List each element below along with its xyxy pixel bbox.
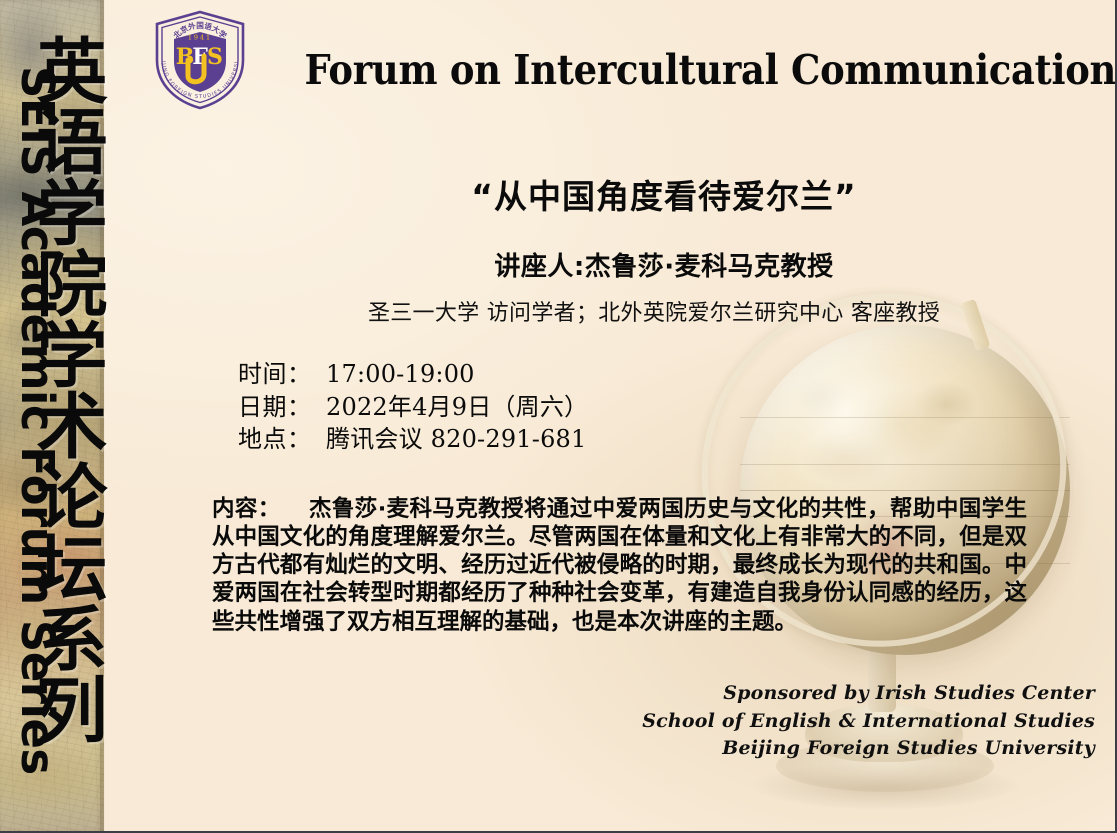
abstract-paragraph: 内容：杰鲁莎·麦科马克教授将通过中爱两国历史与文化的共性，帮助中国学生从中国文化… [212,495,1027,636]
detail-label-date: 日期： [238,391,326,424]
sponsor-line-1: Sponsored by Irish Studies Center [575,680,1095,708]
sponsor-line-3: Beijing Foreign Studies University [575,735,1095,763]
detail-row-date: 日期： 2022年4月9日（周六） [238,391,588,424]
vertical-english-banner: SEIS Academic Forum Series [11,66,64,775]
speaker-line: 讲座人:杰鲁莎·麦科马克教授 [224,246,1104,283]
lecture-title-chinese: “从中国角度看待爱尔兰” [224,170,1104,218]
speaker-affiliation: 圣三一大学 访问学者；北外英院爱尔兰研究中心 客座教授 [204,295,1104,327]
poster-canvas: 英语学院学术论坛系列 SEIS Academic Forum Series 北京… [0,0,1117,833]
detail-value-venue: 腾讯会议 820-291-681 [326,423,586,456]
sponsor-line-2: School of English & International Studie… [575,708,1095,736]
detail-row-time: 时间： 17:00-19:00 [238,358,588,391]
sponsor-block: Sponsored by Irish Studies Center School… [575,680,1095,763]
event-details: 时间： 17:00-19:00 日期： 2022年4月9日（周六） 地点： 腾讯… [238,358,588,456]
detail-label-time: 时间： [238,358,326,391]
detail-value-time: 17:00-19:00 [326,358,475,391]
page-title: Forum on Intercultural Communication [305,49,1070,92]
detail-value-date: 2022年4月9日（周六） [326,391,588,424]
content-column: Forum on Intercultural Communication “从中… [104,0,1115,831]
detail-label-venue: 地点： [238,423,326,456]
detail-row-venue: 地点： 腾讯会议 820-291-681 [238,423,588,456]
abstract-label: 内容： [212,496,281,522]
abstract-body: 杰鲁莎·麦科马克教授将通过中爱两国历史与文化的共性，帮助中国学生从中国文化的角度… [212,496,1027,635]
